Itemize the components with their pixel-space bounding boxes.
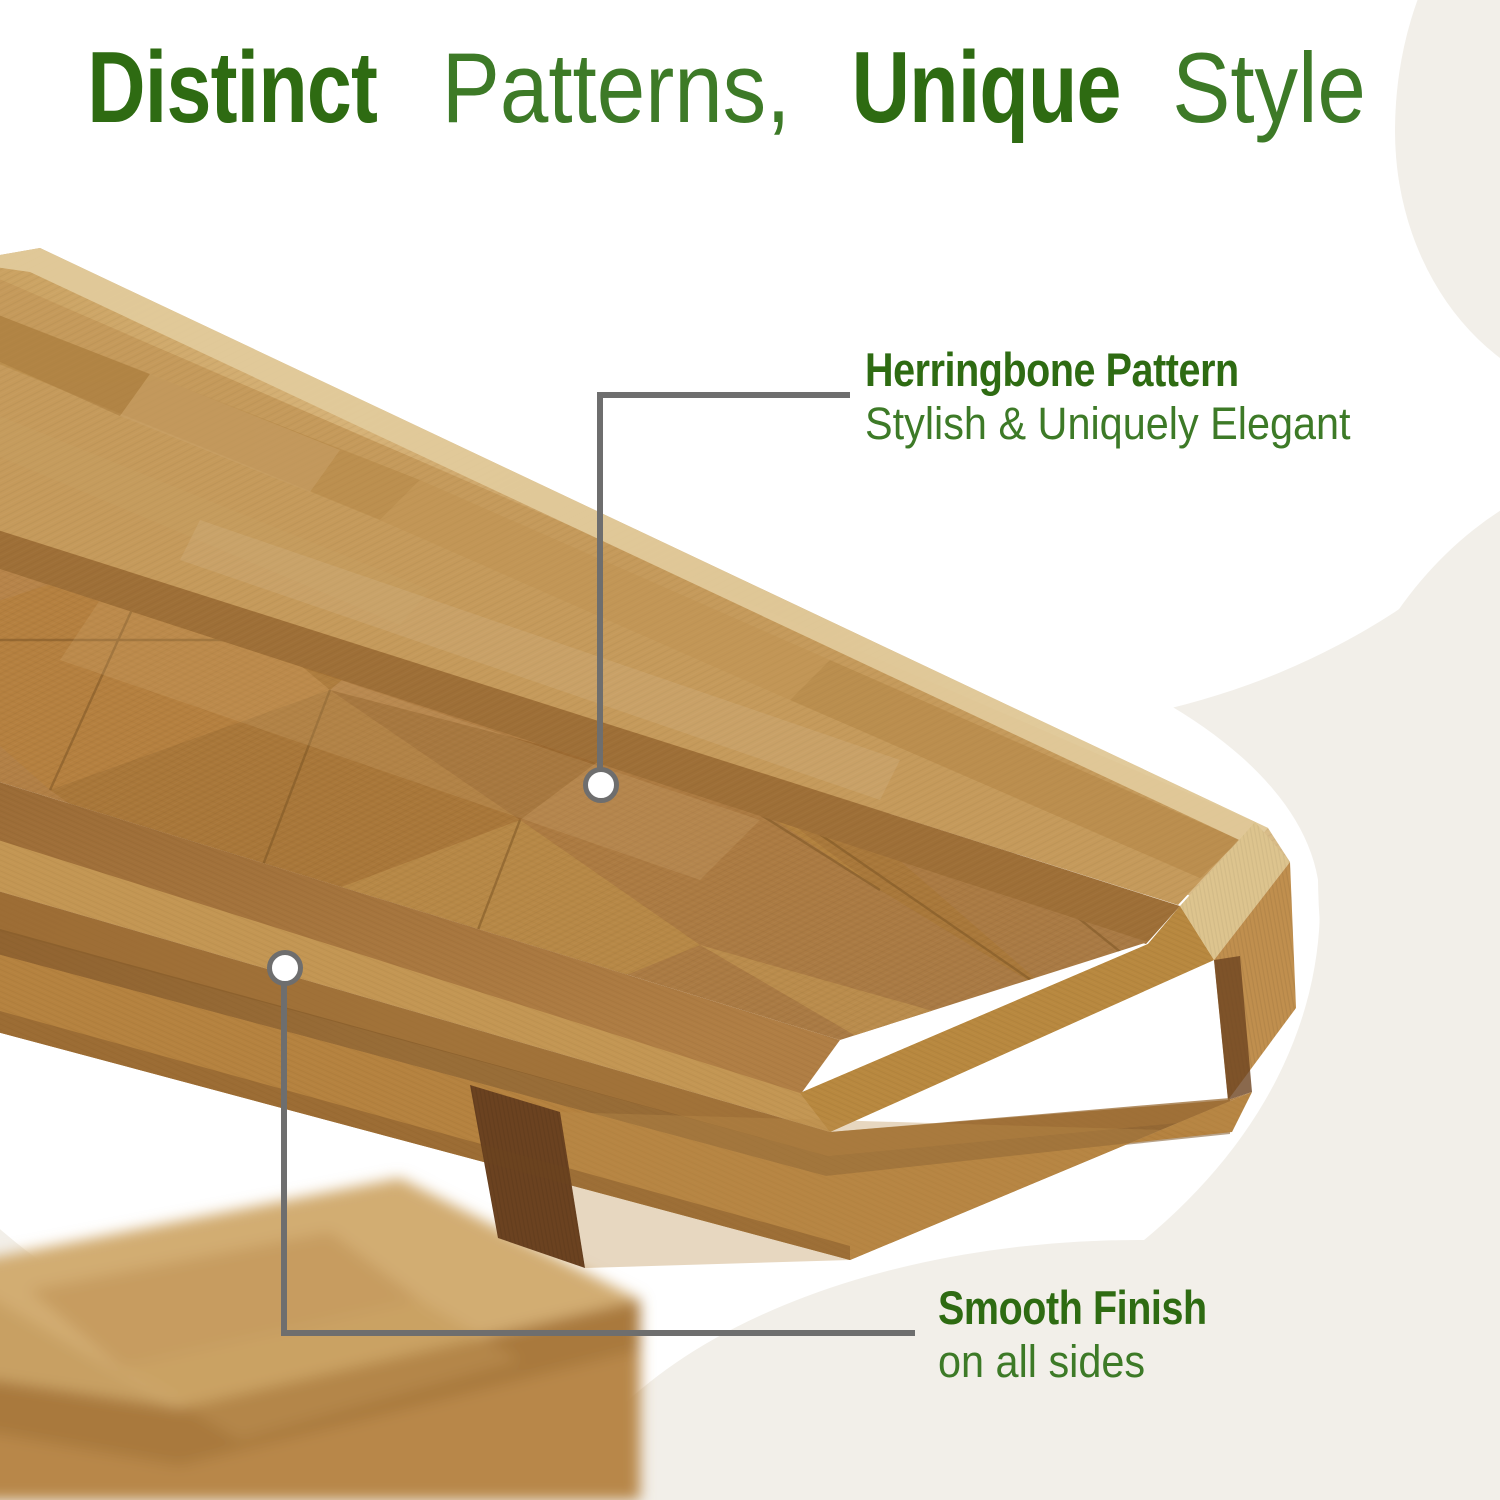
- callout-text-smooth-finish: Smooth Finish on all sides: [938, 1283, 1258, 1386]
- product-image: [0, 0, 1500, 1500]
- callout-title-herringbone: Herringbone Pattern: [865, 345, 1308, 395]
- product-infographic: Distinct Patterns, Unique Style: [0, 0, 1500, 1500]
- callout-subtitle-herringbone: Stylish & Uniquely Elegant: [865, 399, 1351, 449]
- callout-subtitle-smooth-finish: on all sides: [938, 1337, 1232, 1387]
- leader-line-vertical-1: [597, 392, 603, 780]
- leader-line-horizontal-1: [597, 392, 850, 398]
- callout-marker-herringbone[interactable]: [583, 767, 619, 803]
- leader-line-horizontal-2: [281, 1330, 915, 1336]
- leader-line-vertical-2: [281, 982, 287, 1334]
- callout-marker-smooth-finish[interactable]: [267, 950, 303, 986]
- callout-title-smooth-finish: Smooth Finish: [938, 1283, 1207, 1333]
- callout-text-herringbone: Herringbone Pattern Stylish & Uniquely E…: [865, 345, 1393, 448]
- wood-tray-illustration: [0, 0, 1500, 1500]
